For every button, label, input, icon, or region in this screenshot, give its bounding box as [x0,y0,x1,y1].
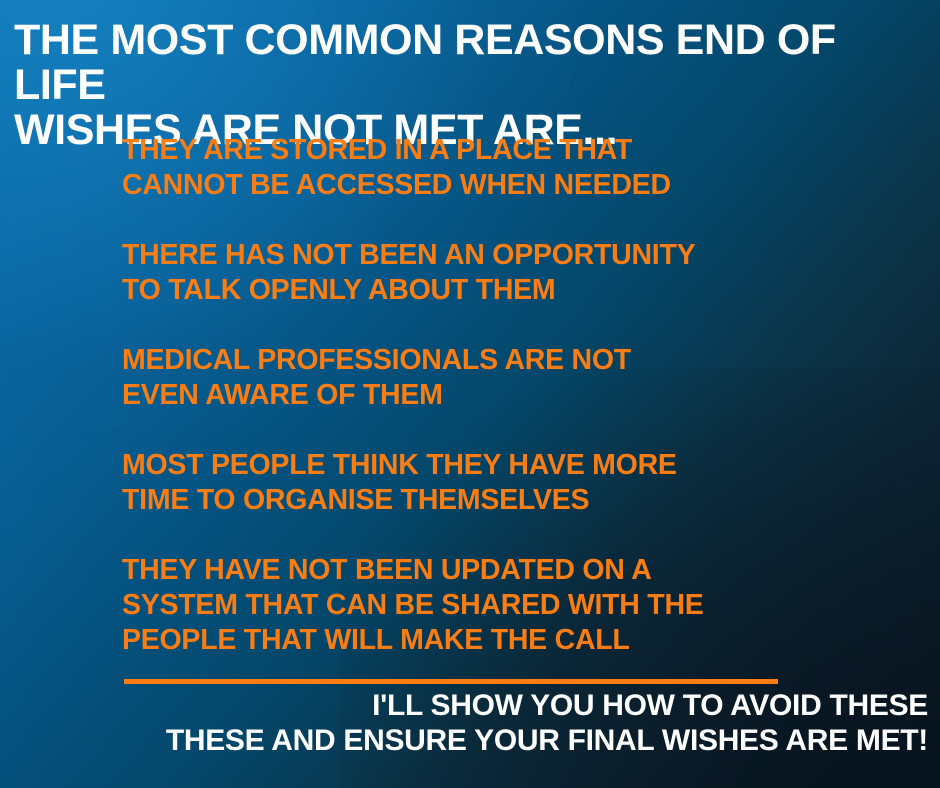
list-item: MOST PEOPLE THINK THEY HAVE MORE TIME TO… [122,448,922,518]
reasons-list: THEY ARE STORED IN A PLACE THAT CANNOT B… [122,133,922,658]
list-item: THEY ARE STORED IN A PLACE THAT CANNOT B… [122,133,922,203]
closing-statement: I'LL SHOW YOU HOW TO AVOID THESE THESE A… [8,688,928,758]
divider [124,679,778,684]
slide-canvas: THE MOST COMMON REASONS END OF LIFE WISH… [0,0,940,788]
list-item: THEY HAVE NOT BEEN UPDATED ON A SYSTEM T… [122,553,922,658]
list-item: THERE HAS NOT BEEN AN OPPORTUNITY TO TAL… [122,238,922,308]
list-item: MEDICAL PROFESSIONALS ARE NOT EVEN AWARE… [122,343,922,413]
